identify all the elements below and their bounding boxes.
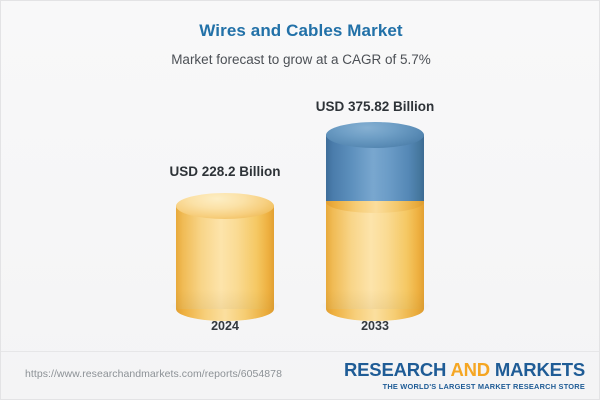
brand-word-and: AND (450, 359, 489, 380)
footer: https://www.researchandmarkets.com/repor… (1, 352, 600, 400)
category-label-2033: 2033 (300, 319, 450, 333)
brand-logo[interactable]: RESEARCH AND MARKETS THE WORLD'S LARGEST… (344, 361, 585, 391)
bar-body-shade-2024 (176, 289, 274, 309)
brand-tagline: THE WORLD'S LARGEST MARKET RESEARCH STOR… (344, 382, 585, 391)
chart-plot-area: USD 228.2 Billion 2024 USD 375.82 Billio… (1, 1, 600, 351)
category-label-2024: 2024 (150, 319, 300, 333)
bar-base-shade-2033 (326, 289, 424, 309)
brand-word-research: RESEARCH (344, 359, 446, 380)
infographic-card: Wires and Cables Market Market forecast … (0, 0, 600, 400)
bar-body-2024 (176, 206, 274, 309)
bar-top-cap-2033 (326, 122, 424, 148)
bar-value-label-2033: USD 375.82 Billion (300, 99, 450, 114)
brand-logo-wordmark: RESEARCH AND MARKETS (344, 361, 585, 380)
bar-value-label-2024: USD 228.2 Billion (150, 164, 300, 179)
source-url[interactable]: https://www.researchandmarkets.com/repor… (25, 368, 282, 380)
bar-top-cap-2024 (176, 193, 274, 219)
bar-base-segment-2033 (326, 201, 424, 309)
brand-word-markets: MARKETS (495, 359, 585, 380)
